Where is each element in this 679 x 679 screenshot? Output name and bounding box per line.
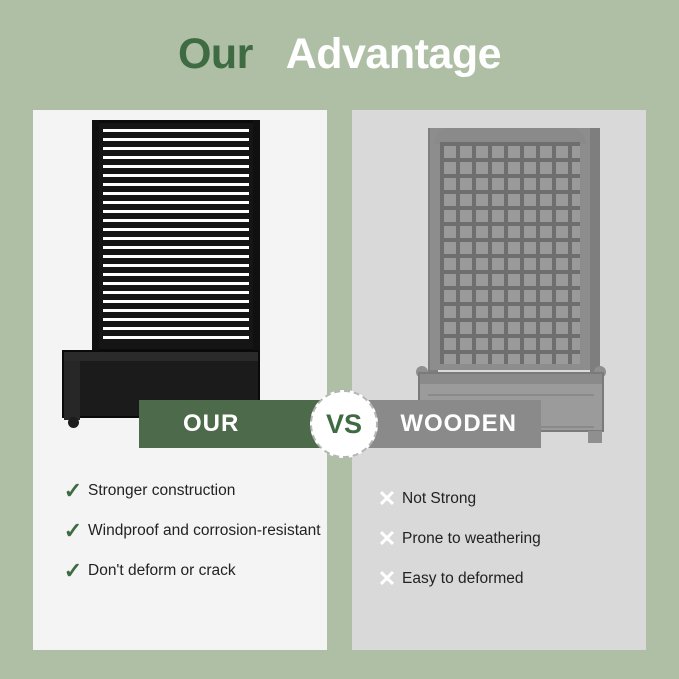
wooden-planter-rail — [420, 374, 602, 384]
metal-trellis-posts — [92, 120, 260, 352]
advantage-comparison-graphic: Our Advantage — [0, 0, 679, 679]
page-title-word-1: Our — [178, 30, 253, 78]
metal-planter-lip — [64, 352, 258, 361]
cross-icon: ✕ — [372, 528, 402, 550]
check-icon: ✓ — [58, 520, 88, 542]
metal-caster-wheel — [68, 417, 79, 428]
page-title: Our Advantage — [0, 30, 679, 79]
wooden-post-right — [590, 128, 600, 376]
list-item-label: Easy to deformed — [402, 568, 523, 590]
list-item: ✕ Not Strong — [372, 488, 637, 510]
list-item: ✓ Don't deform or crack — [58, 560, 323, 582]
list-item-label: Stronger construction — [88, 480, 235, 502]
vs-badge: VS — [310, 390, 378, 458]
list-item: ✓ Windproof and corrosion-resistant — [58, 520, 323, 542]
list-item-label: Windproof and corrosion-resistant — [88, 520, 321, 542]
left-feature-list: ✓ Stronger construction ✓ Windproof and … — [58, 480, 323, 600]
list-item-label: Not Strong — [402, 488, 476, 510]
list-item: ✓ Stronger construction — [58, 480, 323, 502]
check-icon: ✓ — [58, 560, 88, 582]
cross-icon: ✕ — [372, 488, 402, 510]
wooden-lattice — [440, 142, 580, 364]
cross-icon: ✕ — [372, 568, 402, 590]
metal-planter-side — [64, 361, 80, 420]
right-feature-list: ✕ Not Strong ✕ Prone to weathering ✕ Eas… — [372, 488, 637, 608]
list-item-label: Don't deform or crack — [88, 560, 236, 582]
list-item: ✕ Prone to weathering — [372, 528, 637, 550]
check-icon: ✓ — [58, 480, 88, 502]
vs-banner: OUR WOODEN VS — [139, 400, 541, 448]
wooden-planter-foot — [588, 431, 602, 443]
page-title-word-2: Advantage — [286, 30, 501, 78]
wooden-trellis-panel — [430, 128, 590, 370]
list-item-label: Prone to weathering — [402, 528, 541, 550]
list-item: ✕ Easy to deformed — [372, 568, 637, 590]
